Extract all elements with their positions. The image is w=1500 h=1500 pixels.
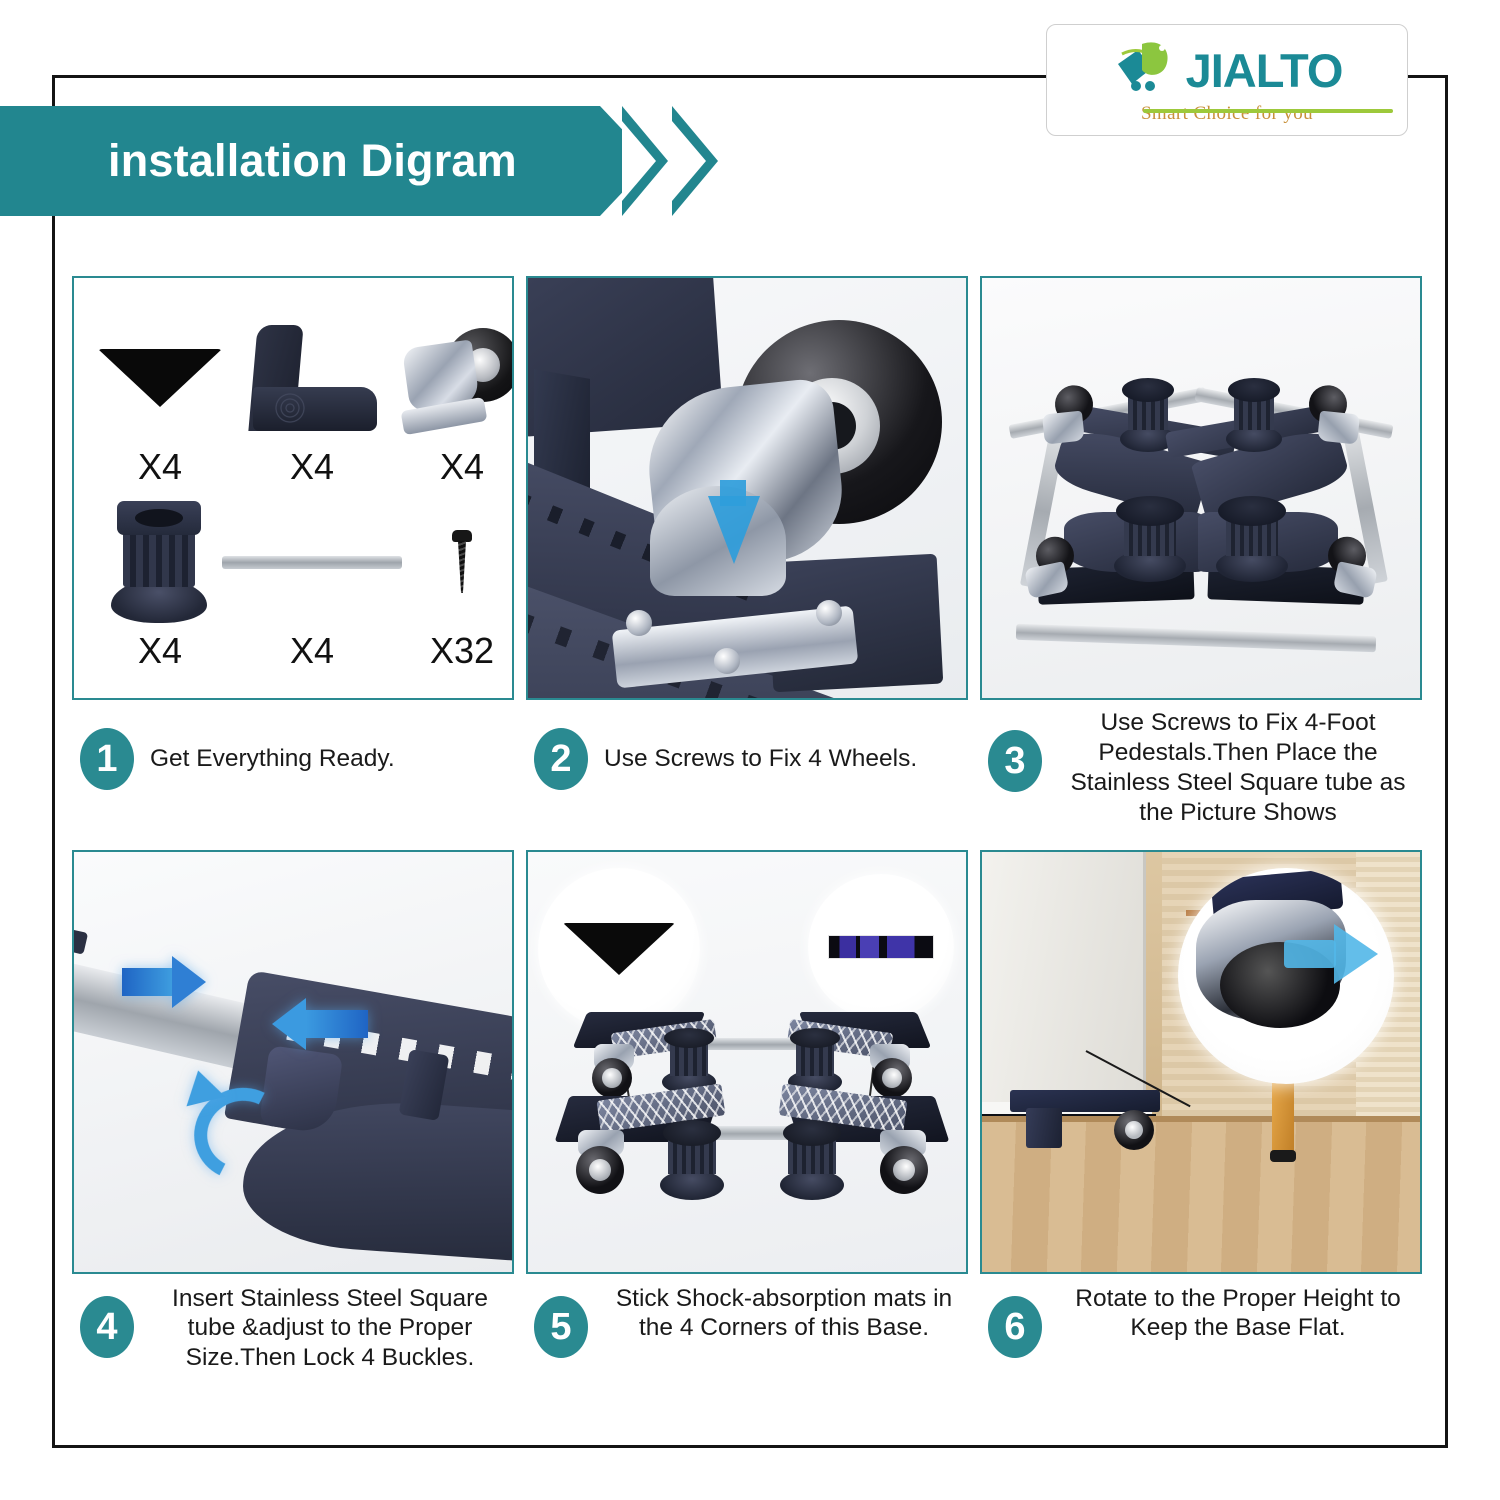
step-text-6: Rotate to the Proper Height to Keep the …: [1058, 1284, 1418, 1344]
step-text-5: Stick Shock-absorption mats in the 4 Cor…: [604, 1284, 964, 1344]
step-cell-4: 4 Insert Stainless Steel Square tube &ad…: [72, 850, 514, 1378]
step-image-3: [980, 276, 1422, 700]
step-cell-1: X4 X4: [72, 276, 514, 828]
screw-icon: [449, 498, 475, 626]
installation-diagram-page: JIALTO Smart Choice for you installation…: [0, 0, 1500, 1500]
step-badge-4: 4: [80, 1296, 134, 1358]
step-text-4: Insert Stainless Steel Square tube &adju…: [150, 1284, 510, 1374]
step-image-5: [526, 850, 968, 1274]
appliance-base-under-unit: [1010, 1090, 1160, 1154]
part-item: X32: [402, 488, 514, 672]
logo-row: JIALTO: [1112, 39, 1343, 101]
step-image-6: [980, 850, 1422, 1274]
caster-closeup-photo: [528, 278, 966, 698]
step-text-3: Use Screws to Fix 4-Foot Pedestals.Then …: [1058, 708, 1418, 828]
step-image-4: [72, 850, 514, 1274]
in-room-base-photo: [982, 852, 1420, 1272]
steps-row-2: 4 Insert Stainless Steel Square tube &ad…: [72, 850, 1422, 1378]
step-image-2: [526, 276, 968, 700]
l-foot-icon: [247, 314, 377, 442]
step-image-1: X4 X4: [72, 276, 514, 700]
mat-side-icon: [828, 935, 934, 959]
parts-list: X4 X4: [74, 278, 512, 698]
part-qty: X32: [430, 630, 494, 672]
step-caption-5: 5 Stick Shock-absorption mats in the 4 C…: [526, 1274, 968, 1378]
steps-grid: X4 X4: [72, 276, 1422, 1378]
part-item: X4: [402, 304, 514, 488]
step-cell-2: 2 Use Screws to Fix 4 Wheels.: [526, 276, 968, 828]
part-qty: X4: [440, 446, 484, 488]
callout-rotate-pedestal: [1178, 868, 1394, 1084]
chevron-right-icon-1: [622, 106, 668, 216]
half-assembly-photo: [982, 278, 1420, 698]
caster-wheel-icon: [402, 314, 514, 442]
part-item: X4: [222, 488, 402, 672]
part-qty: X4: [138, 446, 182, 488]
step-badge-3: 3: [988, 730, 1042, 792]
buckle-insert-photo: [74, 852, 512, 1272]
pedestal-icon: [105, 498, 215, 626]
part-qty: X4: [138, 630, 182, 672]
step-text-1: Get Everything Ready.: [150, 744, 395, 774]
step-caption-4: 4 Insert Stainless Steel Square tube &ad…: [72, 1274, 514, 1378]
step-cell-5: 5 Stick Shock-absorption mats in the 4 C…: [526, 850, 968, 1378]
steps-row-1: X4 X4: [72, 276, 1422, 828]
square-tube-icon: [222, 498, 402, 626]
assembled-base-photo: [528, 852, 966, 1272]
brand-logo-card: JIALTO Smart Choice for you: [1046, 24, 1408, 136]
rotate-arrow-icon: [1284, 940, 1336, 968]
step-badge-5: 5: [534, 1296, 588, 1358]
chevron-right-icon-2: [672, 106, 718, 216]
page-title: installation Digram: [108, 106, 517, 216]
step-caption-1: 1 Get Everything Ready.: [72, 700, 514, 804]
step-badge-2: 2: [534, 728, 588, 790]
logo-underline: [1143, 109, 1393, 113]
part-item: X4: [98, 304, 222, 488]
step-caption-6: 6 Rotate to the Proper Height to Keep th…: [980, 1274, 1422, 1378]
part-item: X4: [222, 304, 402, 488]
step-cell-6: 6 Rotate to the Proper Height to Keep th…: [980, 850, 1422, 1378]
step-badge-1: 1: [80, 728, 134, 790]
triangle-mat-icon: [98, 314, 222, 442]
parts-grid: X4 X4: [98, 304, 488, 672]
part-qty: X4: [290, 630, 334, 672]
step-caption-2: 2 Use Screws to Fix 4 Wheels.: [526, 700, 968, 804]
step-cell-3: 3 Use Screws to Fix 4-Foot Pedestals.The…: [980, 276, 1422, 828]
callout-mat-side-view: [808, 874, 954, 1020]
brand-name: JIALTO: [1186, 47, 1343, 94]
step-text-2: Use Screws to Fix 4 Wheels.: [604, 744, 917, 774]
step-caption-3: 3 Use Screws to Fix 4-Foot Pedestals.The…: [980, 700, 1422, 828]
step-badge-6: 6: [988, 1296, 1042, 1358]
shopping-cart-tag-icon: [1112, 40, 1184, 100]
brand-tagline: Smart Choice for you: [1141, 103, 1313, 125]
part-qty: X4: [290, 446, 334, 488]
part-item: X4: [98, 488, 222, 672]
triangle-mat-icon: [563, 923, 675, 975]
